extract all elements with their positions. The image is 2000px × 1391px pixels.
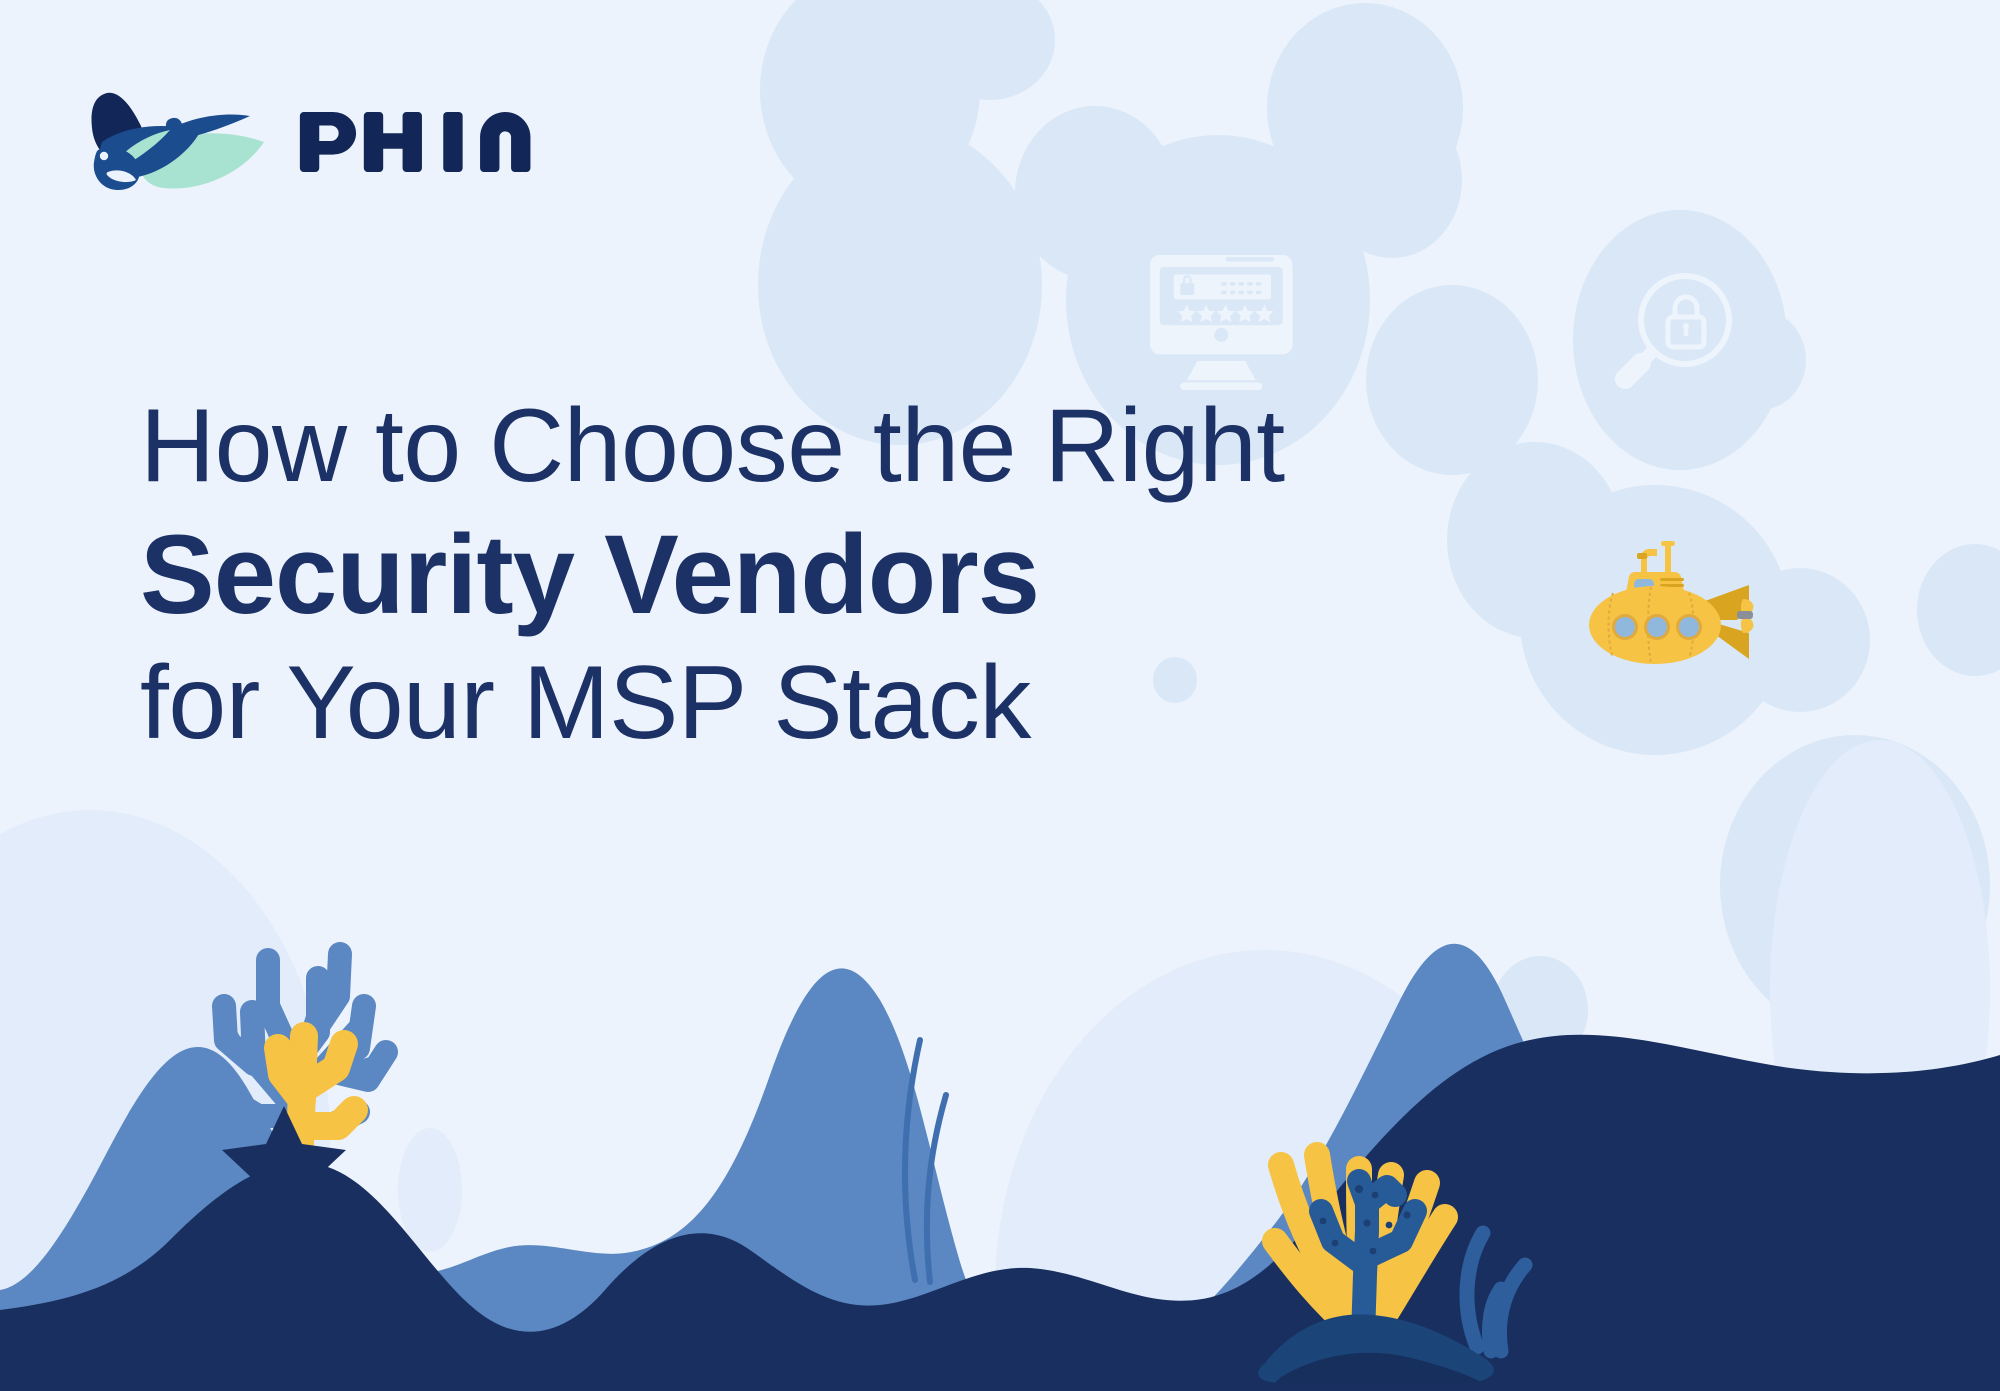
headline-line-1: How to Choose the Right <box>140 385 1570 508</box>
cover-canvas: How to Choose the Right Security Vendors… <box>0 0 2000 1391</box>
page-title: How to Choose the Right Security Vendors… <box>140 385 1570 765</box>
seaweed-right <box>1467 1233 1525 1351</box>
phin-wordmark <box>296 110 587 172</box>
yellow-submarine <box>1577 541 1767 681</box>
headline-line-3: for Your MSP Stack <box>140 642 1570 765</box>
manta-eye-lower <box>138 179 146 187</box>
brand-logo[interactable] <box>84 88 587 193</box>
submarine-periscope <box>1637 541 1675 575</box>
headline-line-2: Security Vendors <box>140 508 1570 642</box>
coral-left <box>222 954 386 1224</box>
submarine-portholes <box>1612 614 1702 640</box>
manta-ray-logo-mark <box>84 88 274 193</box>
coral-right <box>1258 1155 1525 1383</box>
manta-eye-upper <box>100 152 108 160</box>
